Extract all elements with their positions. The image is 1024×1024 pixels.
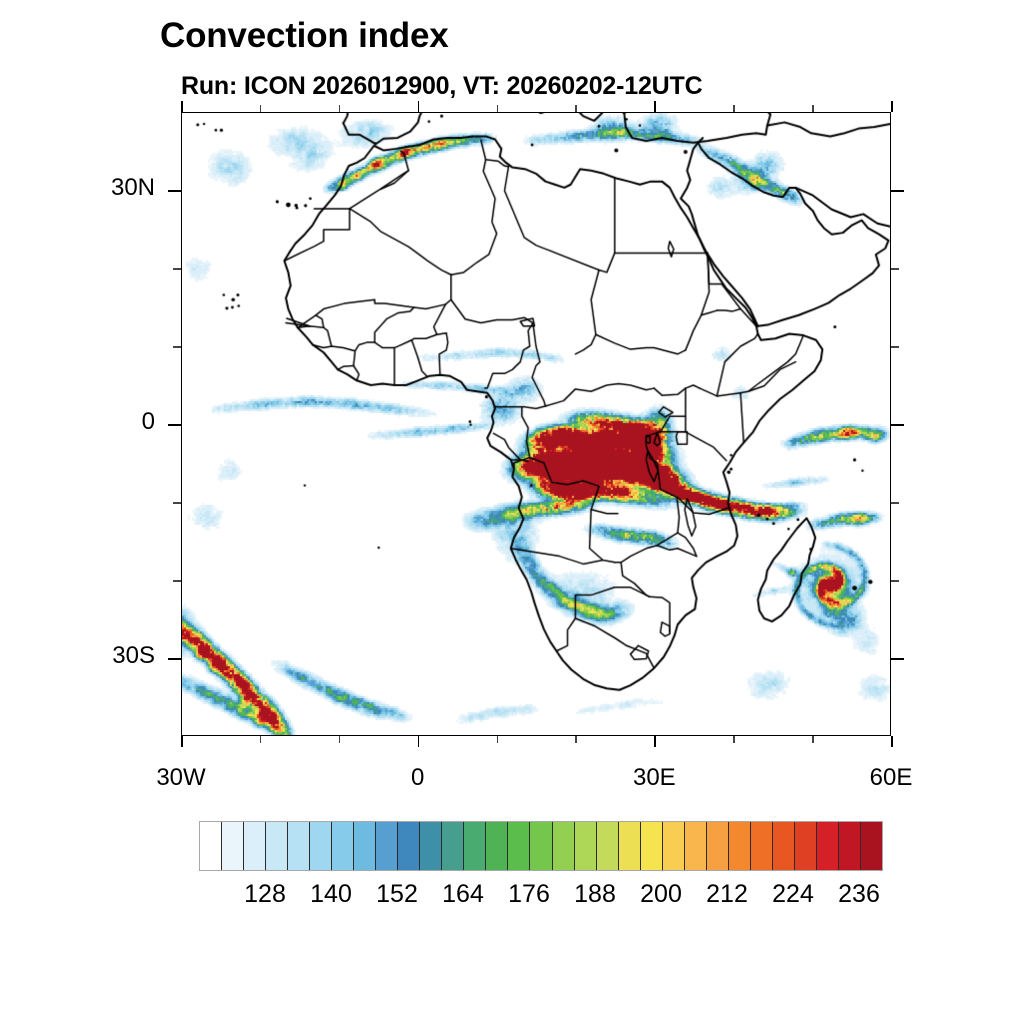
colorbar-cell	[861, 822, 882, 870]
colorbar-cell	[266, 822, 288, 870]
colorbar-cell	[200, 822, 222, 870]
colorbar-cell	[795, 822, 817, 870]
colorbar-cell	[773, 822, 795, 870]
colorbar-cell	[597, 822, 619, 870]
y-axis-label: 0	[21, 408, 155, 436]
colorbar-tick-label: 188	[574, 880, 616, 909]
x-minor-tick	[339, 736, 341, 743]
x-major-tick	[654, 736, 656, 747]
colorbar-tick-label: 152	[376, 880, 418, 909]
x-major-tick-top	[181, 101, 183, 112]
colorbar-tick-label: 212	[706, 880, 748, 909]
colorbar-cell	[310, 822, 332, 870]
x-minor-tick-top	[497, 105, 499, 112]
x-minor-tick-top	[575, 105, 577, 112]
colorbar-cell	[442, 822, 464, 870]
colorbar-cell	[729, 822, 751, 870]
colorbar-cell	[575, 822, 597, 870]
x-minor-tick-top	[339, 105, 341, 112]
colorbar-cell	[641, 822, 663, 870]
y-minor-tick-right	[891, 268, 899, 270]
y-major-tick-right	[891, 424, 904, 426]
y-minor-tick	[173, 502, 181, 504]
colorbar-cell	[420, 822, 442, 870]
colorbar-cell	[398, 822, 420, 870]
y-minor-tick-right	[891, 502, 899, 504]
colorbar-tick-label: 128	[244, 880, 286, 909]
colorbar-cell	[464, 822, 486, 870]
colorbar-cell	[817, 822, 839, 870]
x-minor-tick	[812, 736, 814, 743]
colorbar-cell	[553, 822, 575, 870]
x-major-tick-top	[418, 101, 420, 112]
y-major-tick	[168, 190, 181, 192]
colorbar-cell	[354, 822, 376, 870]
colorbar-cell	[839, 822, 861, 870]
x-minor-tick-top	[260, 105, 262, 112]
map-plot-area[interactable]	[181, 112, 891, 736]
x-major-tick-top	[891, 101, 893, 112]
x-minor-tick	[733, 736, 735, 743]
colorbar-tick-label: 176	[508, 880, 550, 909]
colorbar-tick-label: 200	[640, 880, 682, 909]
colorbar-cell	[619, 822, 641, 870]
run-valid-time-subtitle: Run: ICON 2026012900, VT: 20260202-12UTC	[181, 72, 702, 101]
colorbar[interactable]	[199, 821, 883, 871]
colorbar-cell	[508, 822, 530, 870]
convection-index-figure: Convection index Run: ICON 2026012900, V…	[0, 0, 1024, 1024]
x-minor-tick-top	[812, 105, 814, 112]
coastline-border-overlay	[182, 113, 890, 735]
x-minor-tick	[260, 736, 262, 743]
y-major-tick-right	[891, 190, 904, 192]
y-axis-label: 30S	[21, 642, 155, 670]
colorbar-tick-label: 164	[442, 880, 484, 909]
colorbar-tick-label: 140	[310, 880, 352, 909]
y-axis-label: 30N	[21, 174, 155, 202]
x-axis-label: 30W	[121, 764, 241, 792]
x-axis-label: 60E	[831, 764, 951, 792]
y-minor-tick	[173, 268, 181, 270]
x-minor-tick-top	[733, 105, 735, 112]
colorbar-cell	[707, 822, 729, 870]
colorbar-cell	[244, 822, 266, 870]
x-major-tick	[418, 736, 420, 747]
x-major-tick-top	[654, 101, 656, 112]
colorbar-cell	[376, 822, 398, 870]
colorbar-cell	[530, 822, 552, 870]
y-minor-tick	[173, 346, 181, 348]
y-minor-tick-right	[891, 346, 899, 348]
colorbar-cell	[288, 822, 310, 870]
x-major-tick	[181, 736, 183, 747]
y-major-tick	[168, 424, 181, 426]
y-major-tick-right	[891, 658, 904, 660]
colorbar-tick-label: 224	[772, 880, 814, 909]
x-axis-label: 30E	[594, 764, 714, 792]
colorbar-tick-label: 236	[838, 880, 880, 909]
page-title: Convection index	[160, 16, 449, 56]
colorbar-cell	[222, 822, 244, 870]
colorbar-cell	[685, 822, 707, 870]
x-minor-tick	[497, 736, 499, 743]
x-major-tick	[891, 736, 893, 747]
y-minor-tick	[173, 580, 181, 582]
y-major-tick	[168, 658, 181, 660]
colorbar-cell	[751, 822, 773, 870]
x-minor-tick	[575, 736, 577, 743]
x-axis-label: 0	[358, 764, 478, 792]
colorbar-cell	[332, 822, 354, 870]
y-minor-tick-right	[891, 580, 899, 582]
colorbar-cell	[663, 822, 685, 870]
colorbar-cell	[486, 822, 508, 870]
